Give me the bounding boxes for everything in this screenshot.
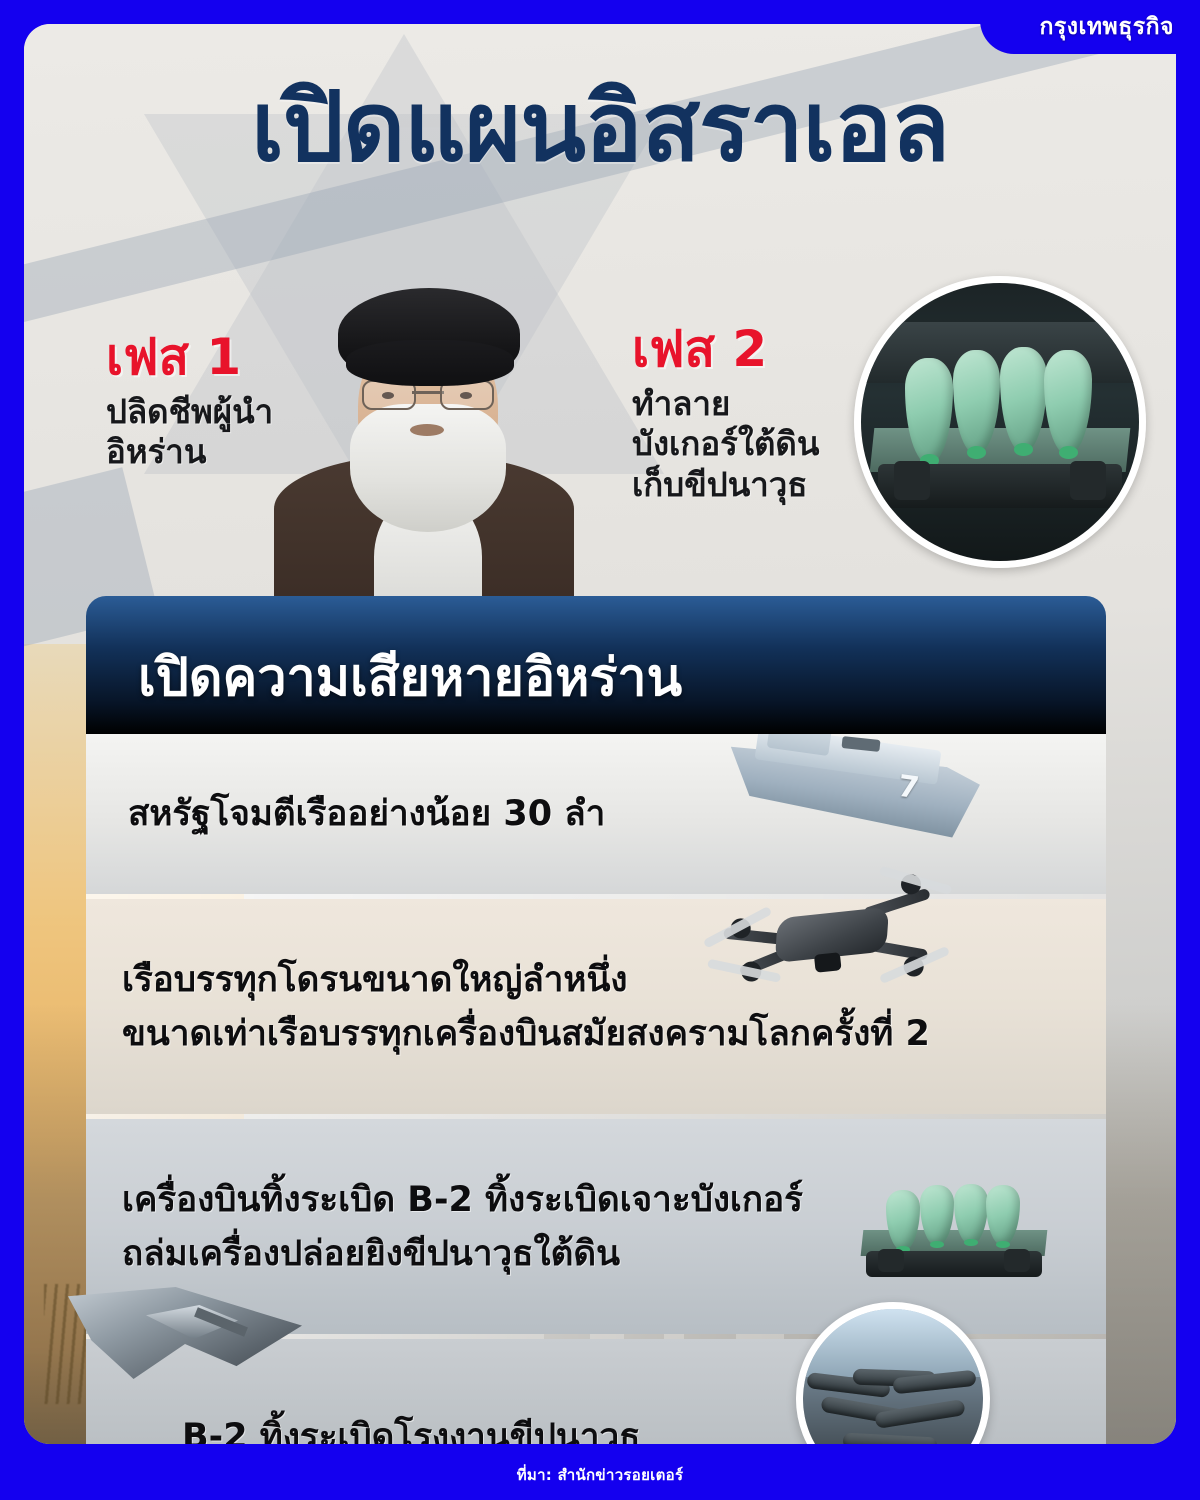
poster-content-frame: เปิดแผนอิสราเอล เฟส 1 ปลิดชีพผู้นำ อิหร [24,24,1176,1444]
bomb-tip [1014,443,1033,456]
bomb-tip [1059,446,1078,459]
phase-2-line-3: เก็บขีปนาวุธ [632,465,819,505]
fact-row: เรือบรรทุกโดรนขนาดใหญ่ลำหนึ่ง ขนาดเท่าเร… [86,899,1106,1114]
bomb-tip [967,446,986,459]
infographic-poster: เปิดแผนอิสราเอล เฟส 1 ปลิดชีพผู้นำ อิหร [0,0,1200,1500]
phase-2-tag: เฟส 2 [632,324,819,374]
source-footer: ที่มา: สำนักข่าวรอยเตอร์ [0,1450,1200,1500]
source-text: ที่มา: สำนักข่าวรอยเตอร์ [517,1463,684,1487]
bombs-on-trolley-photo [854,276,1146,568]
portrait-turban-band [346,340,514,386]
portrait-mouth [410,424,444,436]
bomb-trolley-illustration [861,283,1139,561]
fact-2-line-1: เรือบรรทุกโดรนขนาดใหญ่ลำหนึ่ง [122,959,930,1001]
phase-1-tag: เฟส 1 [106,332,273,382]
iran-leader-portrait [234,274,614,614]
phase-1-block: เฟส 1 ปลิดชีพผู้นำ อิหร่าน [106,332,273,473]
trolley-wheel [894,461,930,500]
brand-logo-text: กรุงเทพธุรกิจ [1040,9,1175,45]
section-header-bar: เปิดความเสียหายอิหร่าน [86,596,1106,734]
trolley-wheel [1070,461,1106,500]
fact-text: สหรัฐโจมตีเรืออย่างน้อย 30 ลำ [128,793,605,835]
section-title: เปิดความเสียหายอิหร่าน [86,635,682,734]
phase-2-block: เฟส 2 ทำลาย บังเกอร์ใต้ดิน เก็บขีปนาวุธ [632,324,819,505]
phase-1-line-1: ปลิดชีพผู้นำ [106,392,273,432]
trolley-wheel [1004,1249,1030,1271]
phase-2-line-2: บังเกอร์ใต้ดิน [632,424,819,464]
trolley-wheel [878,1249,904,1271]
fact-1-line-1: สหรัฐโจมตีเรืออย่างน้อย 30 ลำ [128,793,605,835]
missile-factory-photo [796,1302,990,1444]
fact-4-line-1: B-2 ทิ้งระเบิดโรงงานขีปนาวุธ [182,1416,641,1445]
fact-row: สหรัฐโจมตีเรืออย่างน้อย 30 ลำ 7 [86,734,1106,894]
phase-1-line-2: อิหร่าน [106,432,273,472]
missile-icon [874,1399,965,1429]
missile-factory-illustration [803,1309,983,1444]
b2-bomber-icon [68,1265,308,1415]
missile-icon [842,1433,936,1444]
fact-3-line-2: ถล่มเครื่องปล่อยยิงขีปนาวุธใต้ดิน [122,1233,803,1275]
fact-2-line-2: ขนาดเท่าเรือบรรทุกเครื่องบินสมัยสงครามโล… [122,1013,930,1055]
factory-hall [803,1309,983,1377]
fact-3-line-1: เครื่องบินทิ้งระเบิด B-2 ทิ้งระเบิดเจาะบ… [122,1179,803,1221]
bomb-tip [996,1241,1010,1248]
bomb-tip [930,1241,944,1248]
fact-text: เรือบรรทุกโดรนขนาดใหญ่ลำหนึ่ง ขนาดเท่าเร… [122,959,930,1055]
bomb-trolley-icon [854,1147,1054,1307]
headline: เปิดแผนอิสราเอล [24,76,1176,180]
phase-2-line-1: ทำลาย [632,384,819,424]
brand-logo: กรุงเทพธุรกิจ [980,0,1200,54]
headline-text: เปิดแผนอิสราเอล [251,71,949,183]
bomb-trolley-illustration [854,1147,1054,1307]
fact-text: เครื่องบินทิ้งระเบิด B-2 ทิ้งระเบิดเจาะบ… [122,1179,803,1275]
fact-text: B-2 ทิ้งระเบิดโรงงานขีปนาวุธ [182,1416,641,1445]
